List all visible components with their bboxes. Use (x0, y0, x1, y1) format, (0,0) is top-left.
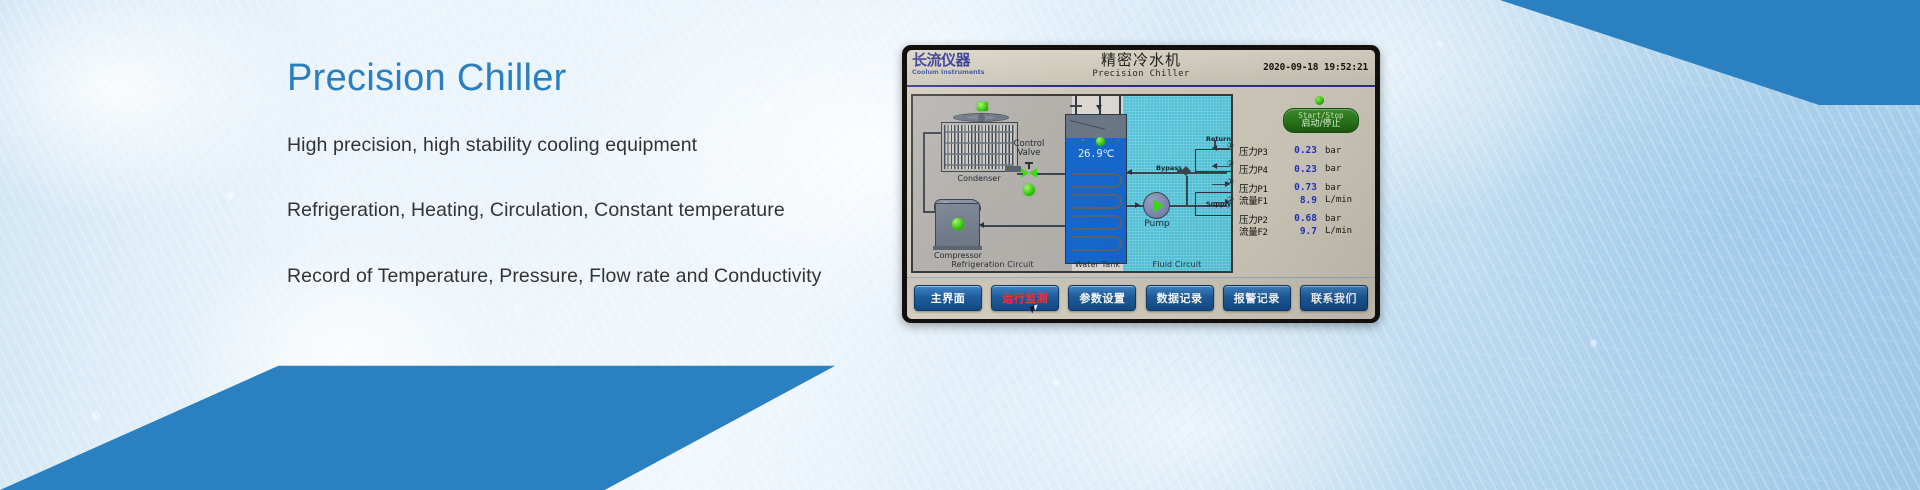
pipe-valve-out (1037, 173, 1067, 175)
nav-button-data-record[interactable]: 数据记录 (1146, 285, 1214, 311)
tank-level-status-led (1096, 137, 1105, 146)
readout-row: 流量F2 9.7 L/min (1239, 225, 1371, 239)
readout-unit: bar (1317, 214, 1341, 224)
pipe-supply-2 (1212, 202, 1227, 204)
pipe-supply-1 (1212, 184, 1227, 186)
readout-unit: L/min (1317, 226, 1352, 236)
tank-temperature-value: 26.9℃ (1066, 148, 1126, 160)
pipe-valve-in (1017, 173, 1023, 175)
nav-button-parameter-settings[interactable]: 参数设置 (1068, 285, 1136, 311)
condenser-fan-icon (953, 113, 1009, 122)
readout-value: 0.68 (1285, 213, 1317, 224)
fan-hub (978, 114, 985, 121)
port-number-return-2: ② (1227, 159, 1234, 168)
tank-heat-exchanger-coil (1072, 173, 1122, 253)
control-valve-label: Control Valve (1005, 140, 1053, 159)
coil-pass (1072, 215, 1122, 230)
readout-name: 流量F2 (1239, 224, 1285, 238)
readout-row: 流量F1 8.9 L/min (1239, 194, 1371, 208)
readout-unit: bar (1317, 164, 1341, 174)
zone-label-refrigeration: Refrigeration Circuit (913, 260, 1072, 269)
valve-cap (1025, 162, 1033, 164)
readout-value: 0.23 (1285, 164, 1317, 175)
process-diagram: Condenser Compressor Control Valve (911, 94, 1233, 273)
readout-name: 流量F1 (1239, 193, 1285, 207)
tank-vent-cross (1070, 105, 1082, 107)
coil-pass (1072, 173, 1122, 188)
start-stop-status-led (1315, 96, 1324, 105)
readout-value: 0.73 (1285, 182, 1317, 193)
pump-run-indicator (1153, 199, 1164, 213)
tank-vent-pipe-3 (1119, 96, 1121, 115)
compressor-status-led (952, 218, 964, 230)
tagline-2: Refrigeration, Heating, Circulation, Con… (287, 199, 907, 222)
control-valve-label-line2: Valve (1018, 148, 1041, 158)
valve-tri-right (1029, 168, 1037, 178)
page-title: Precision Chiller (287, 58, 907, 100)
tagline-3: Record of Temperature, Pressure, Flow ra… (287, 265, 907, 288)
start-stop-button[interactable]: Start/Stop 启动/停止 (1283, 108, 1359, 133)
arrow-pump-in-icon (1135, 202, 1140, 208)
valve-stem (1028, 163, 1029, 169)
readout-name: 压力P4 (1239, 162, 1285, 176)
coil-pass (1072, 236, 1122, 251)
readout-unit: L/min (1317, 195, 1352, 205)
nav-button-main-screen[interactable]: 主界面 (914, 285, 982, 311)
nav-button-run-monitor[interactable]: 运行监测 (991, 285, 1059, 311)
hmi-title-bar: 长流仪器 Coolum Instruments 精密冷水机 Precision … (907, 50, 1375, 87)
nav-button-alarm-record[interactable]: 报警记录 (1223, 285, 1291, 311)
hmi-screen: 长流仪器 Coolum Instruments 精密冷水机 Precision … (907, 50, 1375, 319)
pump-unit (1143, 192, 1170, 219)
arrow-to-compressor-icon (979, 222, 984, 228)
port-number-supply-2: ② (1227, 195, 1234, 204)
zone-label-fluid-circuit: Fluid Circuit (1123, 260, 1231, 269)
readout-unit: bar (1317, 183, 1341, 193)
readout-unit: bar (1317, 146, 1341, 156)
nav-button-contact-us[interactable]: 联系我们 (1300, 285, 1368, 311)
port-number-supply-1: ① (1227, 177, 1234, 186)
readout-row: 压力P4 0.23 bar (1239, 163, 1371, 177)
control-valve-icon (1021, 168, 1037, 179)
readout-panel: Start/Stop 启动/停止 压力P3 0.23 bar 压力P4 0.23… (1239, 94, 1373, 273)
arrow-tank-fill-icon (1096, 105, 1102, 110)
condenser-fan-status-led (977, 102, 988, 111)
compressor-foot (933, 246, 982, 250)
coil-pass (1072, 194, 1122, 209)
readout-value: 8.9 (1285, 195, 1317, 206)
arrow-tank-inlet-icon (1127, 169, 1132, 175)
tagline-1: High precision, high stability cooling e… (287, 134, 907, 157)
start-stop-label-cn: 启动/停止 (1301, 120, 1340, 129)
readout-name: 压力P3 (1239, 144, 1285, 158)
mouse-cursor-icon (1030, 305, 1037, 313)
hmi-body: Condenser Compressor Control Valve (907, 89, 1375, 277)
water-tank: 26.9℃ (1065, 114, 1127, 264)
readout-row: 压力P3 0.23 bar (1239, 144, 1371, 158)
control-valve-status-led (1023, 184, 1035, 196)
bypass-valve-icon (1181, 166, 1192, 176)
hmi-nav-bar: 主界面 运行监测 参数设置 数据记录 报警记录 联系我们 (907, 277, 1375, 319)
pipe-bypass-v (1186, 176, 1188, 206)
hmi-touch-panel: 长流仪器 Coolum Instruments 精密冷水机 Precision … (902, 45, 1380, 323)
hero-copy: Precision Chiller High precision, high s… (287, 58, 907, 288)
port-number-return-1: ① (1227, 141, 1234, 150)
condenser-base (1005, 166, 1021, 172)
readout-value: 0.23 (1285, 145, 1317, 156)
pipe-tank-outlet (1127, 172, 1227, 174)
pipe-suction-h (981, 225, 1067, 227)
condenser-label: Condenser (939, 175, 1019, 184)
pump-label: Pump (1135, 220, 1179, 230)
pipe-refrig-return-v (923, 132, 925, 212)
readout-value: 9.7 (1285, 226, 1317, 237)
datetime-display: 2020-09-18 19:52:21 (1263, 62, 1368, 73)
zone-label-water-tank: Water Tank (1072, 260, 1123, 269)
readout-list: 压力P3 0.23 bar 压力P4 0.23 bar 压力P1 0.73 (1239, 144, 1371, 238)
condenser-coil (945, 128, 1014, 168)
